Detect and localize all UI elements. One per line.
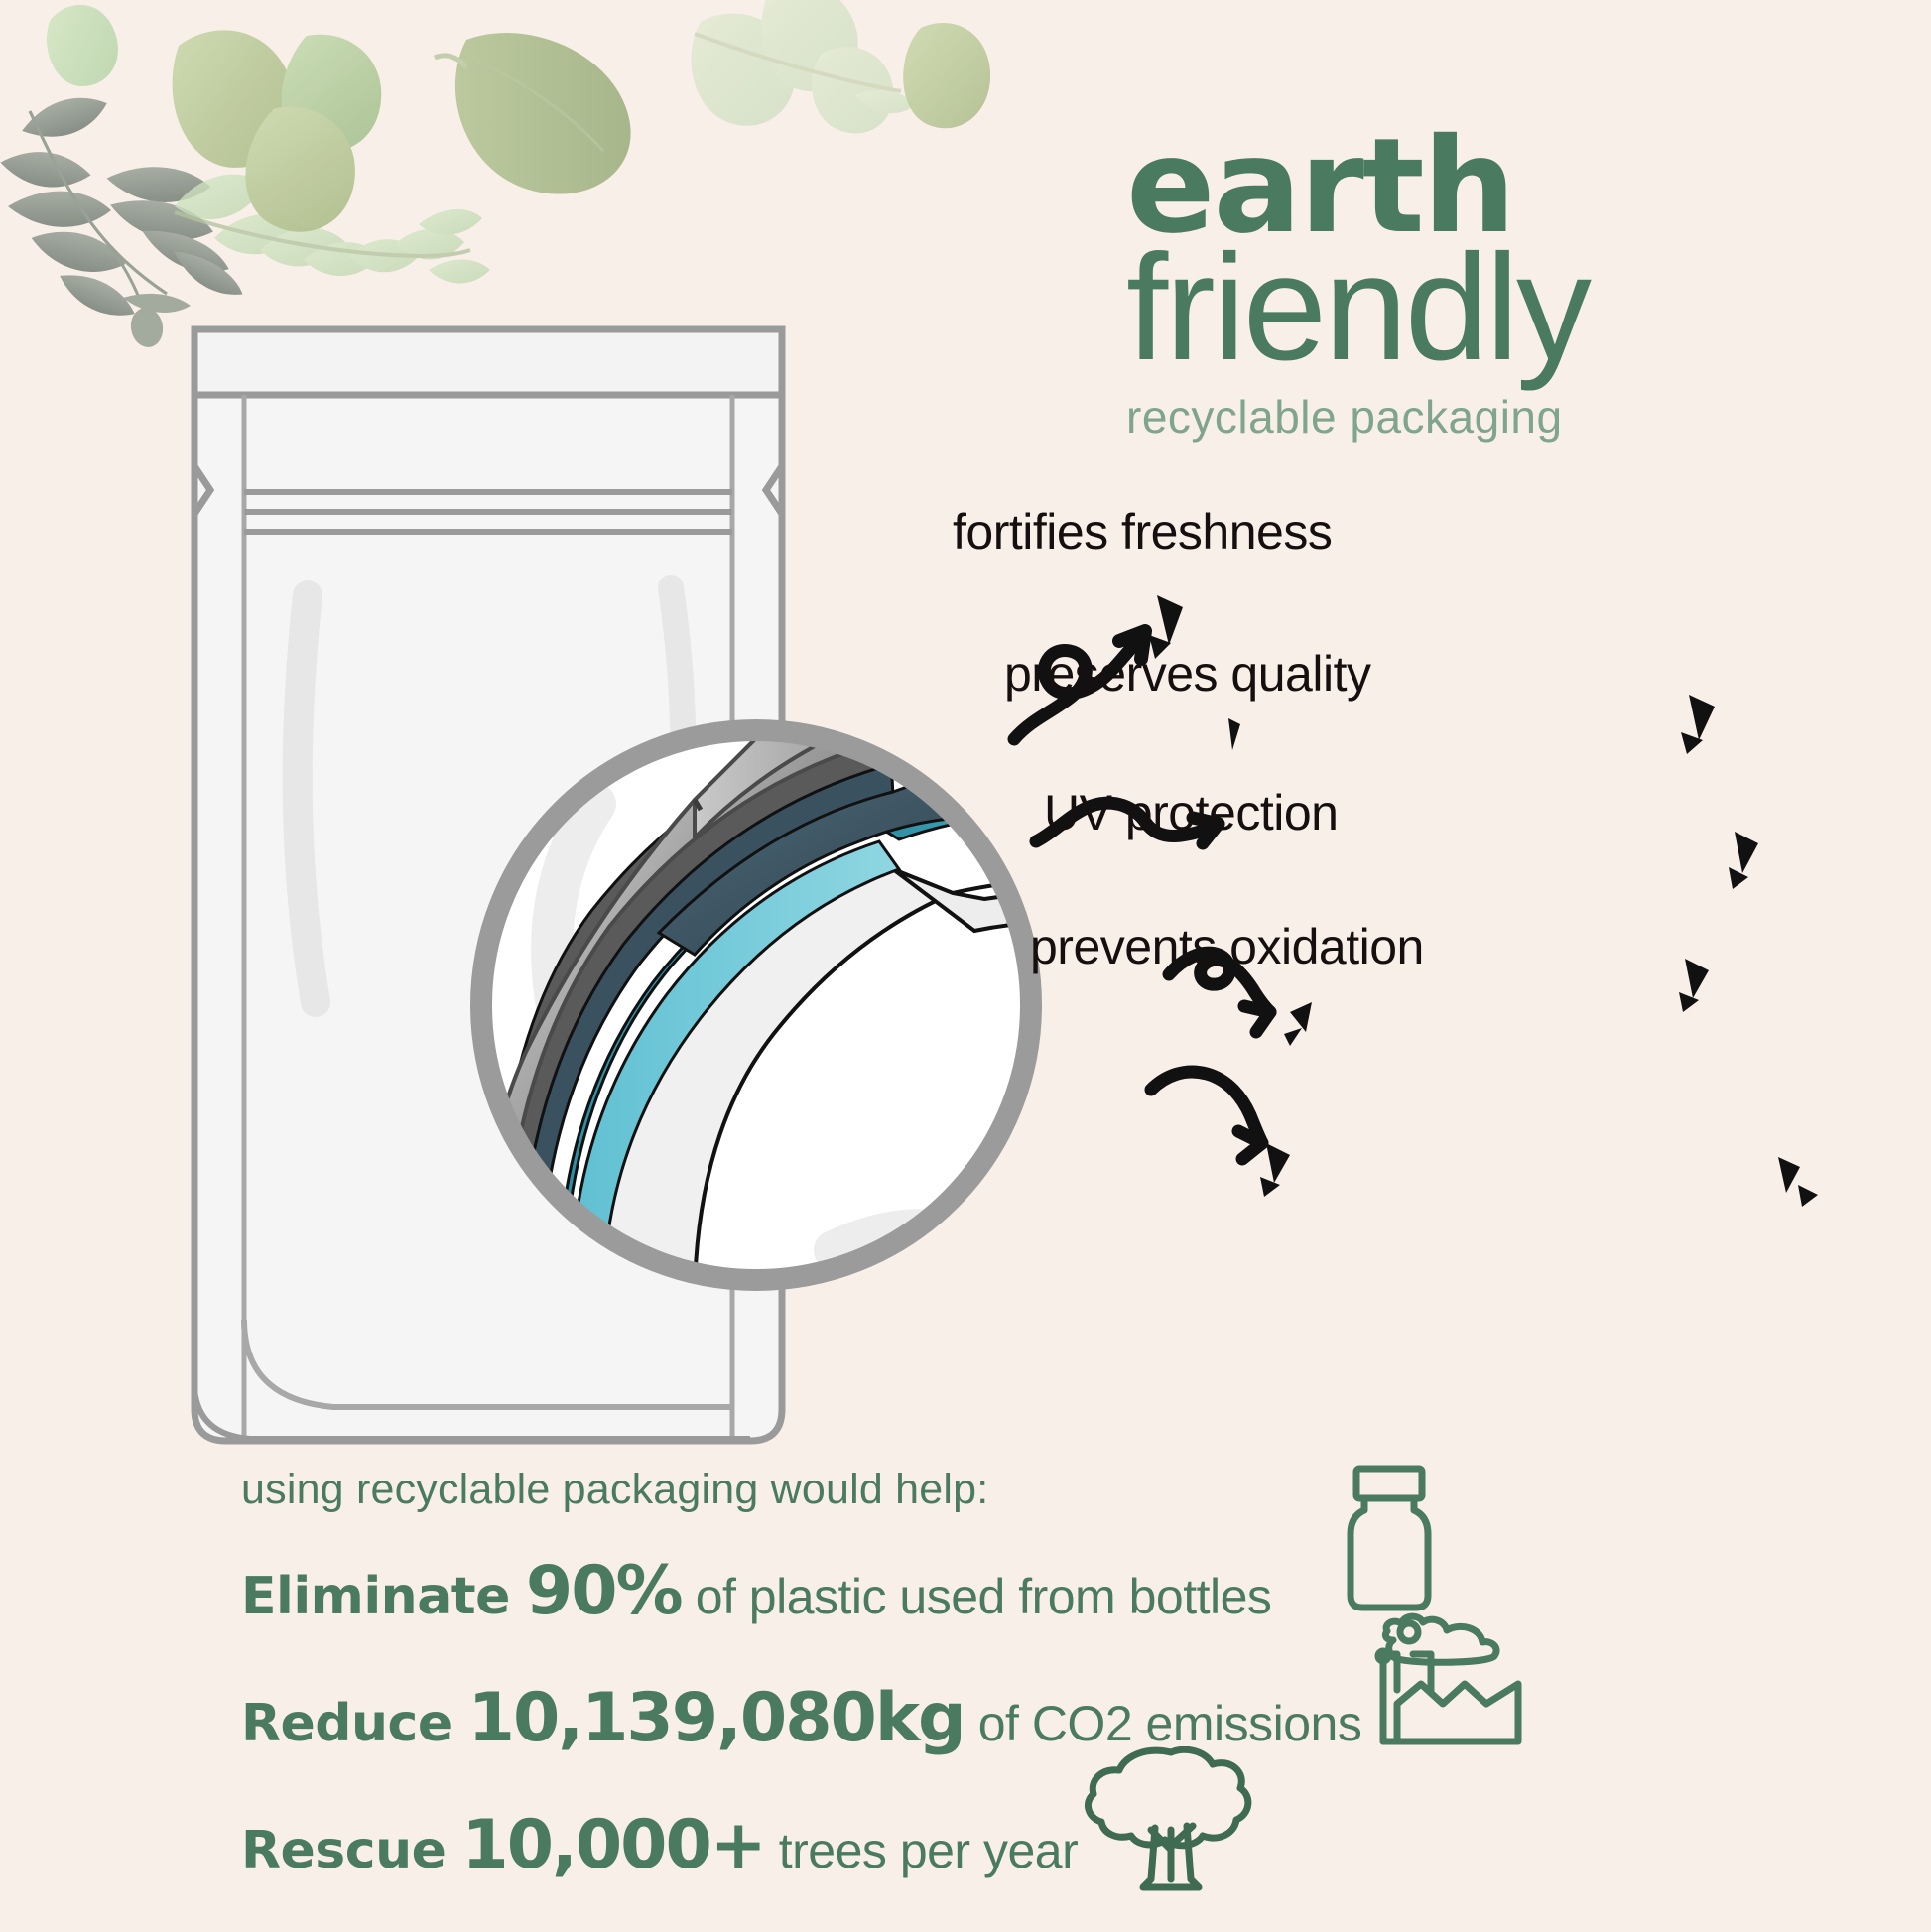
pouch-illustration <box>194 329 782 1441</box>
headline-block: earth friendly recyclable packaging <box>1126 127 1920 444</box>
stat-value: 90% <box>526 1552 682 1630</box>
feature-label-preserves-quality: preserves quality <box>1004 645 1370 703</box>
headline-subtitle: recyclable packaging <box>1126 390 1920 444</box>
feature-label-fortifies-freshness: fortifies freshness <box>953 503 1332 561</box>
stat-tail: of plastic used from bottles <box>696 1568 1272 1625</box>
stat-lead: Rescue <box>241 1821 446 1880</box>
stats-intro: using recyclable packaging would help: <box>241 1466 988 1514</box>
factory-icon <box>1369 1612 1528 1761</box>
stat-value: 10,139,080kg <box>468 1679 965 1757</box>
stat-value: 10,000+ <box>461 1806 764 1884</box>
stat-lead: Reduce <box>241 1694 452 1753</box>
feature-label-uv-protection: UV protection <box>1044 784 1338 841</box>
bottle-icon <box>1325 1459 1454 1617</box>
stat-tail: trees per year <box>779 1822 1078 1879</box>
infographic-canvas: earth friendly recyclable packaging <box>0 0 1931 1932</box>
tree-icon <box>1082 1746 1260 1905</box>
stat-row-eliminate: Eliminate 90% of plastic used from bottl… <box>241 1552 1271 1630</box>
callout-arrows <box>1014 631 1270 1159</box>
headline-line-2: friendly <box>1126 239 1920 378</box>
leaf-decoration-icon <box>0 0 992 417</box>
feature-label-prevents-oxidation: prevents oxidation <box>1030 918 1424 975</box>
stat-lead: Eliminate <box>241 1567 510 1626</box>
stat-tail: of CO2 emissions <box>978 1695 1362 1752</box>
magnifier-lens <box>480 603 1113 1290</box>
stat-row-rescue: Rescue 10,000+ trees per year <box>241 1806 1078 1884</box>
curved-arrow-icon-4 <box>1151 1072 1262 1143</box>
